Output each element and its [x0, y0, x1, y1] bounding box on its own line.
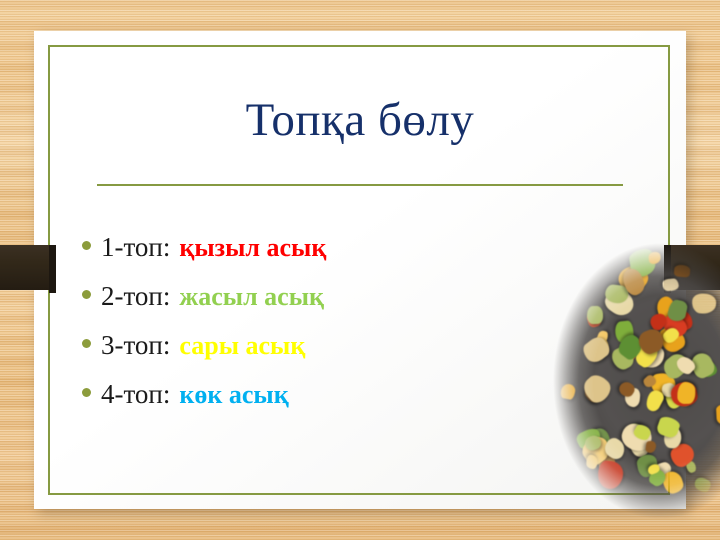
- list-item: 1-топ: қызыл асық: [82, 232, 562, 281]
- ribbon-tab-right: [668, 245, 720, 290]
- group-label: 4-топ:: [101, 379, 170, 410]
- group-value: сары асық: [179, 331, 305, 361]
- bullet-dot-icon: [82, 241, 91, 250]
- group-value: қызыл асық: [179, 233, 326, 263]
- list-item: 3-топ: сары асық: [82, 330, 562, 379]
- group-label: 1-топ:: [101, 232, 170, 263]
- ribbon-tab-left-cap: [49, 245, 56, 293]
- ribbon-tab-right-cap: [664, 245, 671, 293]
- slide-title: Топқа бөлу: [97, 96, 623, 146]
- group-label: 3-топ:: [101, 330, 170, 361]
- list-item: 4-топ: көк асық: [82, 379, 562, 428]
- group-list: 1-топ: қызыл асық 2-топ: жасыл асық 3-то…: [82, 232, 562, 428]
- bullet-dot-icon: [82, 339, 91, 348]
- presentation-slide: Топқа бөлу 1-топ: қызыл асық 2-топ: жасы…: [0, 0, 720, 540]
- title-divider: [97, 184, 623, 186]
- group-label: 2-топ:: [101, 281, 170, 312]
- group-value: көк асық: [179, 380, 288, 410]
- bullet-dot-icon: [82, 388, 91, 397]
- bullet-dot-icon: [82, 290, 91, 299]
- list-item: 2-топ: жасыл асық: [82, 281, 562, 330]
- ribbon-tab-left: [0, 245, 52, 290]
- group-value: жасыл асық: [179, 282, 324, 312]
